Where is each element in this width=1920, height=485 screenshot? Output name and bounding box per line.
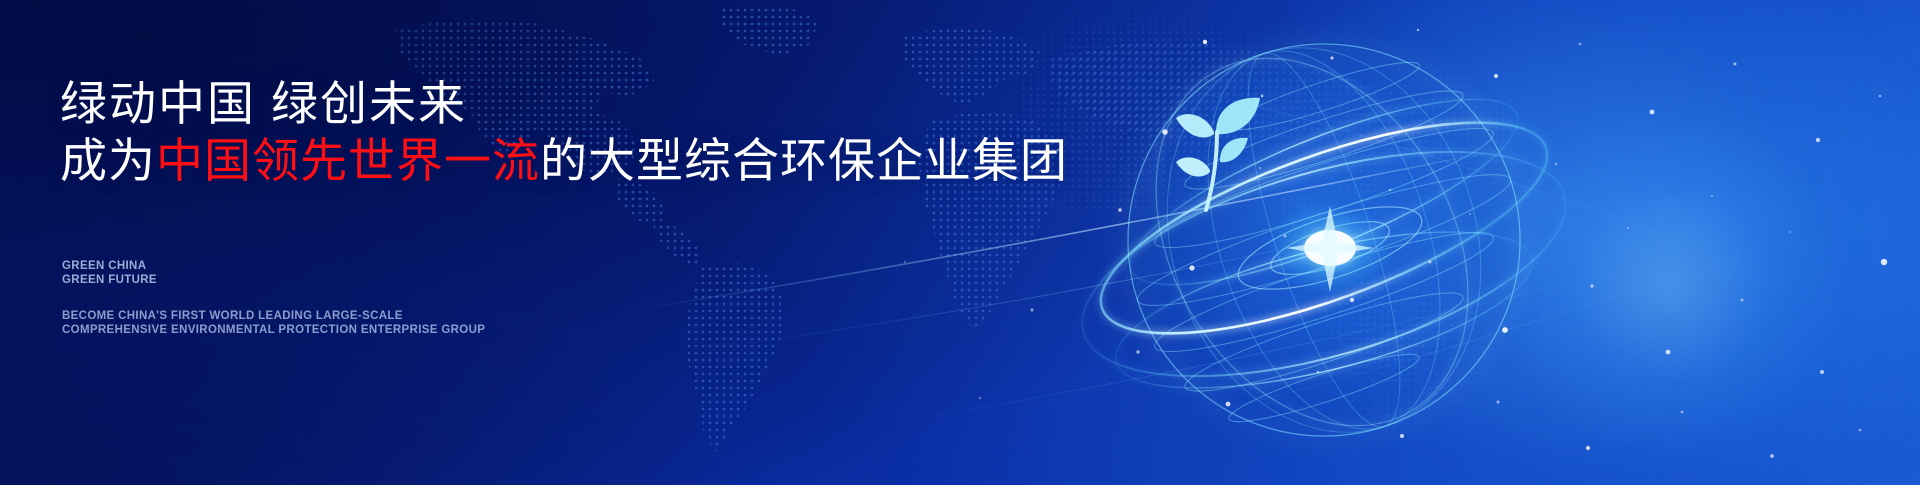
center-glow (1470, 120, 1870, 450)
hex-texture-patch (1290, 40, 1530, 230)
subtitle-en-line-1: GREEN CHINA (62, 259, 157, 273)
tagline-en-line-2: COMPREHENSIVE ENVIRONMENTAL PROTECTION E… (62, 323, 485, 337)
subtitle-en-line-2: GREEN FUTURE (62, 273, 157, 287)
tagline-english: BECOME CHINA'S FIRST WORLD LEADING LARGE… (62, 309, 485, 337)
hex-texture-patch (1300, 300, 1500, 470)
subtitle-english: GREEN CHINA GREEN FUTURE (62, 259, 157, 287)
headline-highlight: 中国领先世界一流 (156, 134, 540, 187)
headline-line-1: 绿动中国 绿创未来 (60, 80, 467, 127)
wireframe-globe (1062, 0, 1582, 485)
headline-suffix: 的大型综合环保企业集团 (540, 134, 1068, 187)
ambient-glow (1150, 0, 1920, 485)
banner-copy: 绿动中国 绿创未来 成为中国领先世界一流的大型综合环保企业集团 GREEN CH… (60, 0, 1060, 485)
hero-banner: 绿动中国 绿创未来 成为中国领先世界一流的大型综合环保企业集团 GREEN CH… (0, 0, 1920, 485)
headline-line-2: 成为中国领先世界一流的大型综合环保企业集团 (60, 137, 1068, 184)
sprout-icon (1176, 98, 1260, 210)
headline-prefix: 成为 (60, 134, 156, 187)
tagline-en-line-1: BECOME CHINA'S FIRST WORLD LEADING LARGE… (62, 309, 485, 323)
